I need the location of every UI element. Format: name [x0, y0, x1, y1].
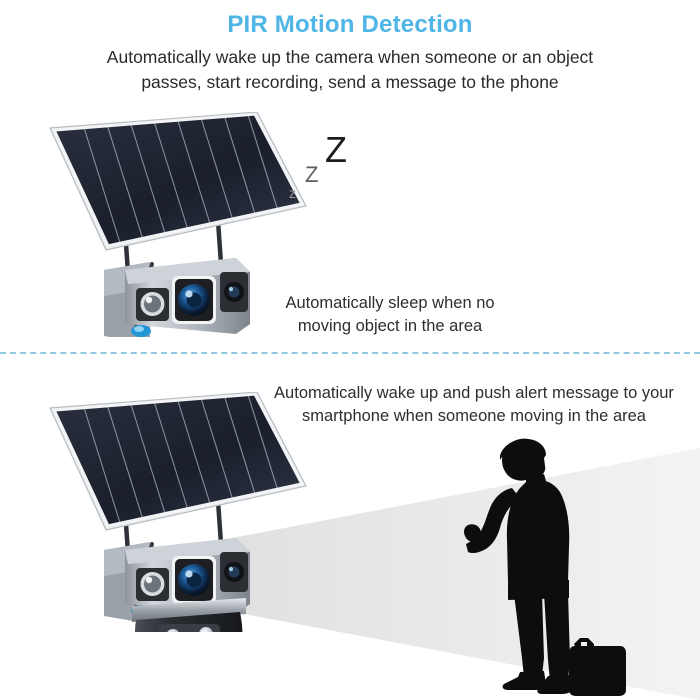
- sleep-caption-line-2: moving object in the area: [255, 315, 525, 338]
- status-indicator-light: [131, 325, 151, 337]
- camera-lens-right: [220, 552, 248, 592]
- alert-caption: Automatically wake up and push alert mes…: [258, 382, 690, 428]
- infographic-page: PIR Motion Detection Automatically wake …: [0, 0, 700, 700]
- camera-lens-left: [136, 288, 169, 321]
- header: PIR Motion Detection Automatically wake …: [0, 10, 700, 95]
- page-title: PIR Motion Detection: [0, 10, 700, 40]
- camera-lens-center: [172, 276, 216, 324]
- ir-led-panel: [158, 624, 220, 632]
- sleep-z-large: Z: [325, 132, 347, 168]
- alert-caption-line-2: smartphone when someone moving in the ar…: [258, 405, 690, 428]
- subtitle-line-1: Automatically wake up the camera when so…: [107, 47, 593, 67]
- camera-lens-center: [172, 556, 216, 604]
- camera-lens-right: [220, 272, 248, 312]
- section-divider: [0, 352, 700, 354]
- sleep-caption: Automatically sleep when no moving objec…: [255, 292, 525, 338]
- camera-lens-left: [136, 568, 169, 601]
- solar-panel: [50, 112, 306, 262]
- sleep-z-medium: Z: [305, 164, 318, 186]
- solar-panel: [50, 392, 306, 542]
- alert-caption-line-1: Automatically wake up and push alert mes…: [274, 384, 674, 402]
- subtitle-line-2: passes, start recording, send a message …: [0, 70, 700, 95]
- sleep-caption-line-1: Automatically sleep when no: [285, 294, 494, 312]
- sleep-z-small: z: [289, 186, 296, 200]
- solar-camera-illustration-bottom: [40, 392, 310, 632]
- camera-head-triple-lens: [125, 258, 250, 337]
- person-silhouette: [448, 432, 628, 700]
- page-subtitle: Automatically wake up the camera when so…: [0, 45, 700, 95]
- businessman-figure: [464, 439, 626, 696]
